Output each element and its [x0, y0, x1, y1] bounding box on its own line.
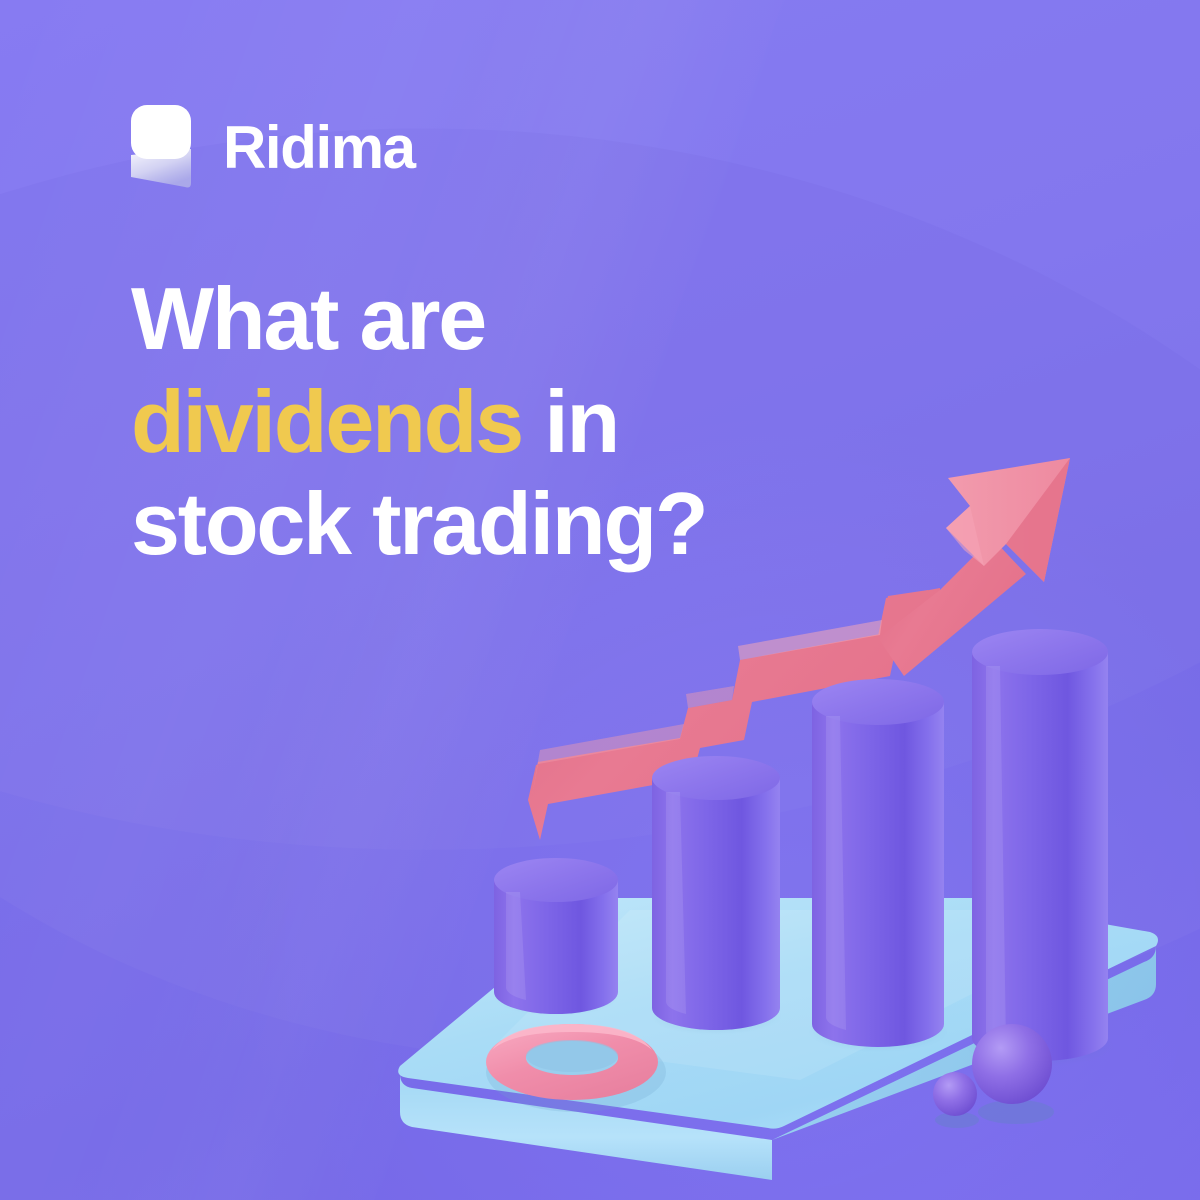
- brand-logo[interactable]: Ridima: [129, 103, 415, 189]
- brand-wordmark: Ridima: [223, 118, 415, 178]
- sphere-large: [972, 1024, 1052, 1104]
- bar-1: [494, 858, 618, 1014]
- bar-4: [972, 629, 1108, 1061]
- 3d-growth-bar-chart-illustration: [380, 440, 1180, 1180]
- speech-bubble-logo-icon: [129, 103, 205, 189]
- bar-2: [652, 756, 780, 1030]
- headline-line-1: What are: [131, 268, 871, 371]
- bar-3: [812, 679, 944, 1047]
- poster-canvas: Ridima What are dividends in stock tradi…: [0, 0, 1200, 1200]
- sphere-small: [933, 1072, 977, 1116]
